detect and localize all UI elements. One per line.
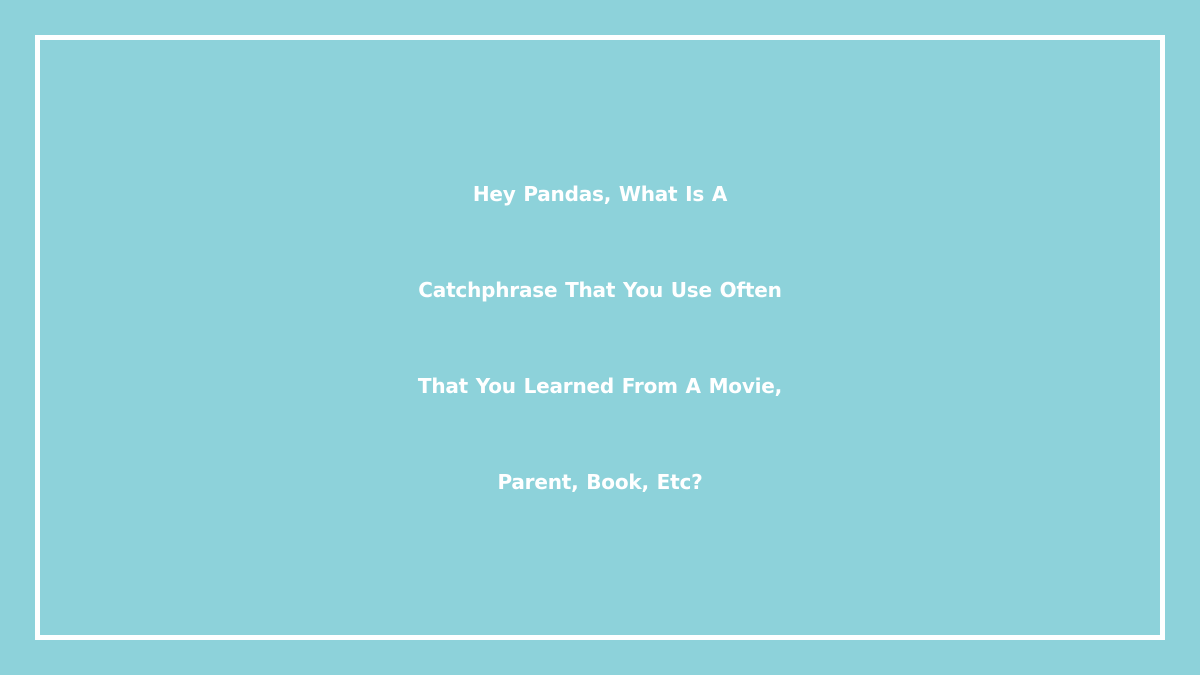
question-card: Hey Pandas, What Is A Catchphrase That Y…: [0, 0, 1200, 675]
headline-line-1: Hey Pandas, What Is A: [60, 146, 1140, 242]
headline-line-4: Parent, Book, Etc?: [60, 434, 1140, 530]
headline-line-3: That You Learned From A Movie,: [60, 338, 1140, 434]
headline-line-2: Catchphrase That You Use Often: [60, 242, 1140, 338]
page-title: Hey Pandas, What Is A Catchphrase That Y…: [60, 146, 1140, 530]
headline-container: Hey Pandas, What Is A Catchphrase That Y…: [0, 0, 1200, 675]
